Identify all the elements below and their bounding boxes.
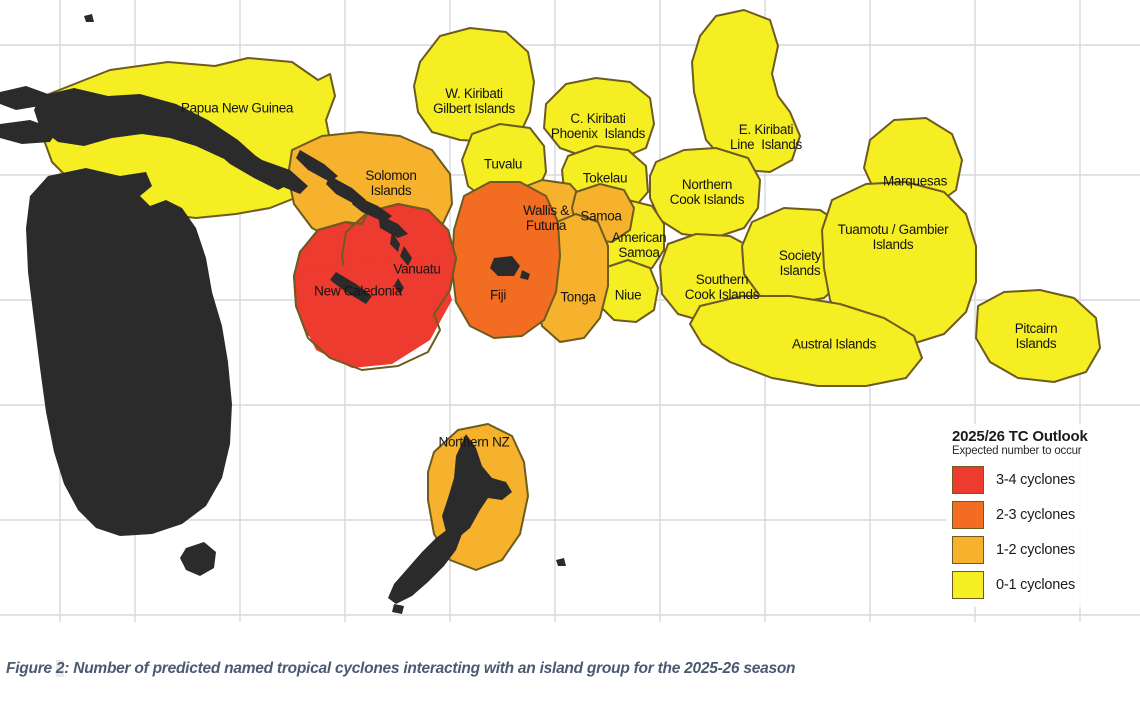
legend-item-0-1: 0-1 cyclones	[952, 571, 1138, 599]
region-w-kiribati-gilbert-islands	[414, 28, 534, 142]
legend-swatch-0-1	[952, 571, 984, 599]
land-north-speck	[84, 14, 94, 22]
legend-label-2-3: 2-3 cyclones	[996, 507, 1075, 523]
cyclone-outlook-map: Papua New Guinea W. KiribatiGilbert Isla…	[0, 0, 1140, 622]
legend-swatch-2-3	[952, 501, 984, 529]
legend-subtitle: Expected number to occur	[952, 445, 1138, 459]
legend-label-1-2: 1-2 cyclones	[996, 542, 1075, 558]
legend-swatch-1-2	[952, 536, 984, 564]
land-stewart-island	[392, 604, 404, 614]
caption-rest: : Number of predicted named tropical cyc…	[64, 660, 795, 677]
map-legend: 2025/26 TC Outlook Expected number to oc…	[946, 424, 1140, 607]
legend-swatch-3-4	[952, 466, 984, 494]
land-nz-south-island	[388, 526, 462, 604]
legend-item-1-2: 1-2 cyclones	[952, 536, 1138, 564]
figure-page: Papua New Guinea W. KiribatiGilbert Isla…	[0, 0, 1140, 715]
land-australia	[26, 168, 232, 536]
legend-label-3-4: 3-4 cyclones	[996, 472, 1075, 488]
legend-label-0-1: 0-1 cyclones	[996, 577, 1075, 593]
legend-item-2-3: 2-3 cyclones	[952, 501, 1138, 529]
region-pitcairn-islands	[976, 290, 1100, 382]
land-tasmania	[180, 542, 216, 576]
caption-prefix: Figure	[6, 660, 56, 677]
legend-title: 2025/26 TC Outlook	[952, 428, 1138, 445]
figure-caption: Figure 2: Number of predicted named trop…	[6, 660, 1106, 678]
region-northern-cook-islands	[650, 148, 760, 238]
legend-item-3-4: 3-4 cyclones	[952, 466, 1138, 494]
land-chatham-islands	[556, 558, 566, 566]
